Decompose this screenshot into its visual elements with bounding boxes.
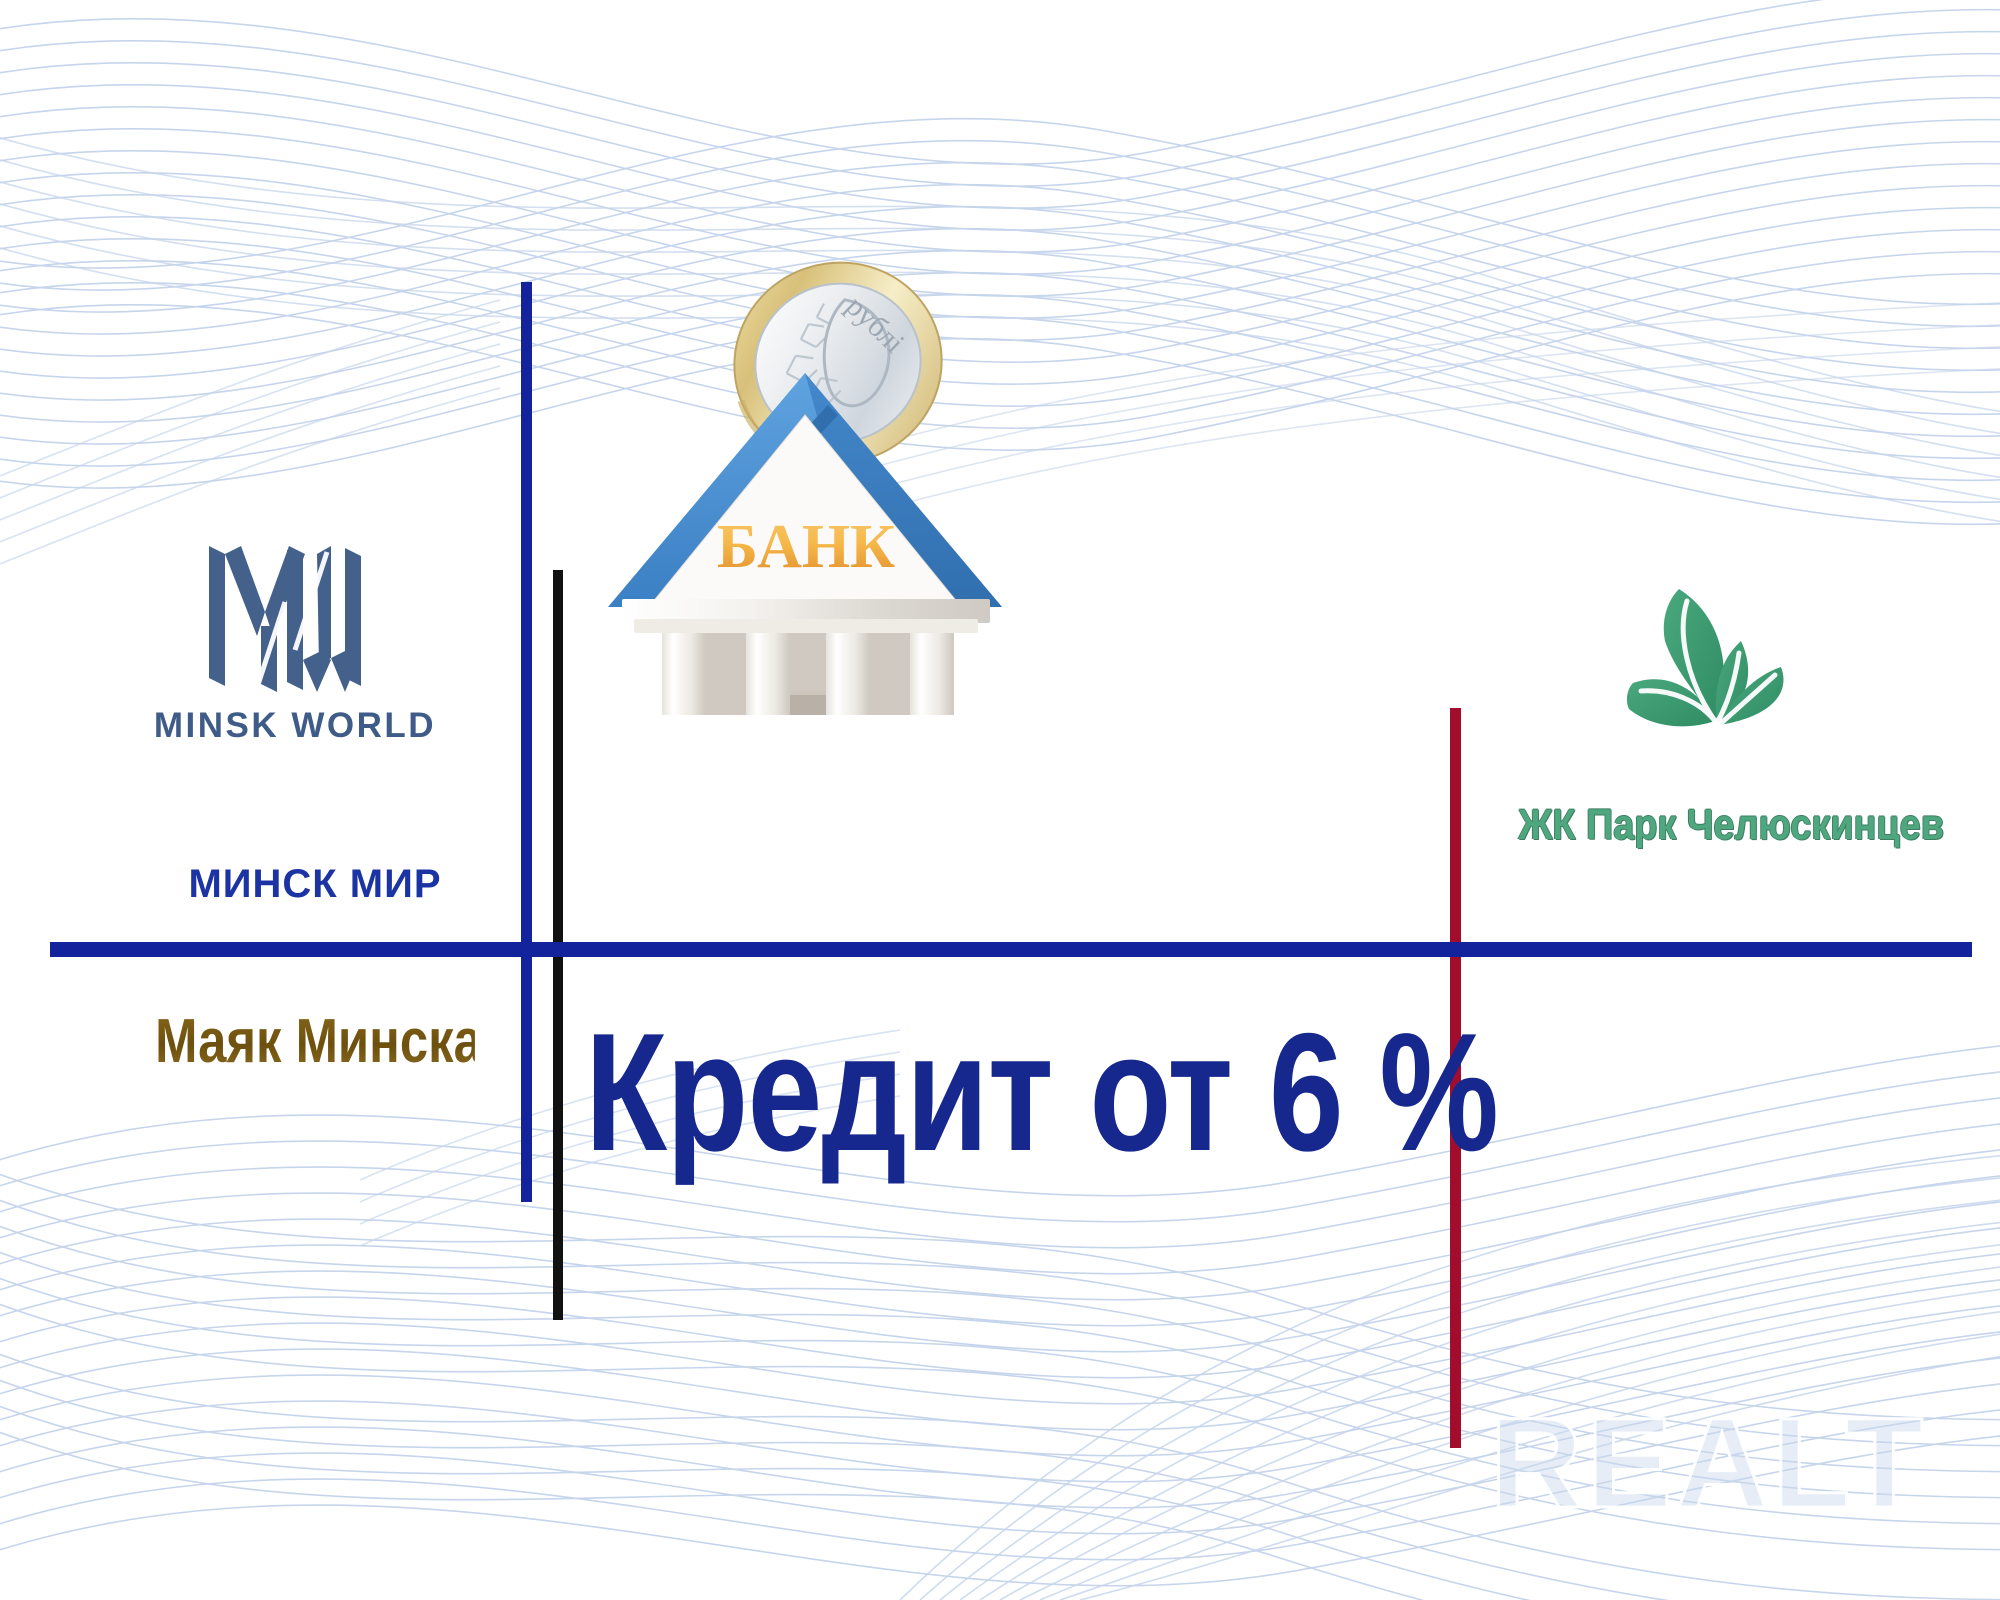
park-chelyuskintsev-logo: ЖК Парк Челюскинцев bbox=[1490, 575, 1960, 850]
minsk-world-logo: MINSK WORLD bbox=[145, 540, 445, 746]
promo-banner: REALT bbox=[0, 0, 2000, 1600]
minsk-world-mw-monogram-icon bbox=[199, 540, 391, 692]
green-leaves-book-icon bbox=[1595, 575, 1855, 790]
realt-watermark: REALT bbox=[1490, 1390, 1927, 1537]
bank-illustration: рублі БАНК bbox=[570, 215, 1040, 715]
minsk-mir-caption: МИНСК МИР bbox=[150, 862, 480, 907]
vertical-blue-rule bbox=[521, 282, 532, 1202]
page-title: Кредит от 6 % bbox=[585, 1008, 1498, 1176]
bank-sign-text: БАНК bbox=[717, 513, 895, 581]
horizontal-blue-rule bbox=[50, 942, 1972, 957]
mayak-minska-caption: Маяк Минска bbox=[155, 1006, 475, 1077]
minsk-world-wordmark: MINSK WORLD bbox=[145, 706, 445, 746]
park-chelyuskintsev-caption: ЖК Парк Челюскинцев bbox=[1518, 801, 1932, 850]
